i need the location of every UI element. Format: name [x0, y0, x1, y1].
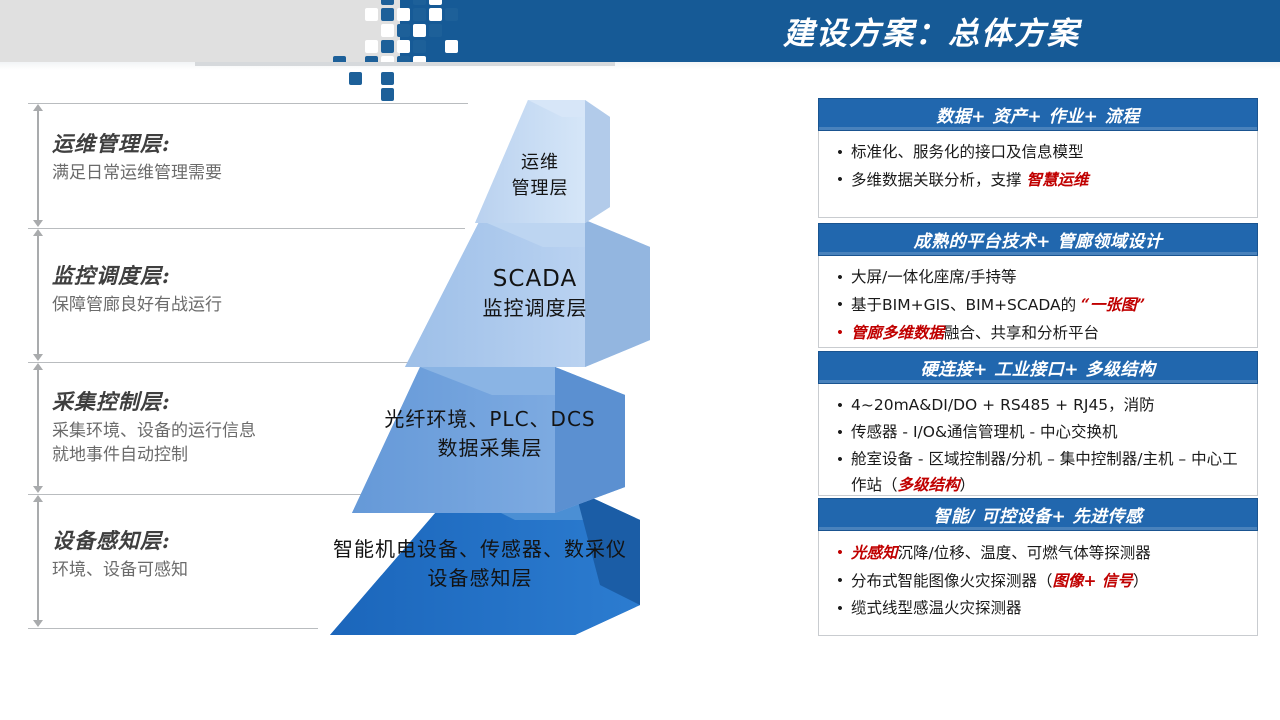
panel-2-bullet-0-text: 4~20mA&DI/DO + RS485 + RJ45，消防 [851, 393, 1155, 418]
panel-1: 成熟的平台技术+ 管廊领域设计 •大屏/一体化座席/手持等•基于BIM+GIS、… [818, 223, 1258, 348]
mosaic-pixel [365, 40, 378, 53]
mosaic-pixel [413, 24, 426, 37]
slide-root: 建设方案：总体方案 运维管理层: 满足日常运维管理需要 监控调度层: 保障管廊良… [0, 0, 1280, 720]
panel-0-title: 数据+ 资产+ 作业+ 流程 [936, 102, 1140, 127]
mosaic-pixel [381, 40, 394, 53]
layer-label-1-desc: 保障管廊良好有战运行 [52, 293, 222, 317]
bullet-dot-icon: • [829, 447, 851, 472]
plain-text: 传感器 - I/O&通信管理机 - 中心交换机 [851, 423, 1117, 441]
plain-text: 大屏/一体化座席/手持等 [851, 268, 1016, 286]
span-arrow-1 [37, 236, 39, 354]
layer-label-2: 采集控制层: 采集环境、设备的运行信息 就地事件自动控制 [52, 386, 256, 467]
panel-0-body: •标准化、服务化的接口及信息模型•多维数据关联分析，支撑 智慧运维 [818, 131, 1258, 218]
mosaic-pixel [381, 0, 394, 5]
layer-label-1-title: 监控调度层: [52, 260, 222, 290]
plain-text: 融合、共享和分析平台 [944, 324, 1099, 342]
bullet-dot-icon: • [829, 265, 851, 290]
layer-label-0-title: 运维管理层: [52, 128, 222, 158]
layer-label-2-title: 采集控制层: [52, 386, 256, 416]
panel-1-title: 成熟的平台技术+ 管廊领域设计 [914, 227, 1163, 252]
layer-label-1: 监控调度层: 保障管廊良好有战运行 [52, 260, 222, 317]
panel-2-header: 硬连接+ 工业接口+ 多级结构 [818, 351, 1258, 384]
mosaic-pixel [381, 8, 394, 21]
bullet-dot-icon: • [829, 568, 851, 593]
panel-3-bullet-2: •缆式线型感温火灾探测器 [829, 596, 1251, 621]
bullet-dot-icon: • [829, 540, 851, 565]
panel-1-body: •大屏/一体化座席/手持等•基于BIM+GIS、BIM+SCADA的 “一张图”… [818, 256, 1258, 348]
panel-1-bullet-1: •基于BIM+GIS、BIM+SCADA的 “一张图” [829, 292, 1251, 318]
panel-0-bullet-0: •标准化、服务化的接口及信息模型 [829, 140, 1251, 165]
mosaic-pixel [413, 8, 426, 21]
pyramid-layer-2-scada [405, 220, 650, 367]
panel-1-bullet-0-text: 大屏/一体化座席/手持等 [851, 265, 1016, 290]
layer-label-3: 设备感知层: 环境、设备可感知 [52, 525, 188, 582]
emphasis-text: “一张图” [1081, 295, 1145, 314]
divider-line-4 [28, 628, 318, 629]
panel-3-bullet-0-text: 光感知沉降/位移、温度、可燃气体等探测器 [851, 540, 1151, 566]
bullet-dot-icon: • [829, 167, 851, 192]
pyramid-svg [300, 95, 770, 635]
mosaic-pixel [429, 0, 442, 5]
panel-0-bullet-0-text: 标准化、服务化的接口及信息模型 [851, 140, 1084, 165]
mosaic-pixel [445, 40, 458, 53]
mosaic-pixel [445, 8, 458, 21]
slide-header: 建设方案：总体方案 [0, 0, 1280, 62]
plain-text: ） [1133, 572, 1149, 590]
mosaic-pixel [429, 8, 442, 21]
plain-text: 标准化、服务化的接口及信息模型 [851, 143, 1084, 161]
layer-label-3-desc: 环境、设备可感知 [52, 558, 188, 582]
panel-2-title: 硬连接+ 工业接口+ 多级结构 [921, 355, 1156, 380]
mosaic-pixel [381, 24, 394, 37]
plain-text: 分布式智能图像火灾探测器（ [851, 572, 1053, 590]
layer-label-3-title: 设备感知层: [52, 525, 188, 555]
plain-text: 缆式线型感温火灾探测器 [851, 599, 1022, 617]
mosaic-pixel [365, 8, 378, 21]
panel-1-bullet-2: •管廊多维数据融合、共享和分析平台 [829, 320, 1251, 346]
panel-3-title: 智能/ 可控设备+ 先进传感 [933, 502, 1142, 527]
panel-1-bullet-2-text: 管廊多维数据融合、共享和分析平台 [851, 320, 1099, 346]
span-arrow-2 [37, 370, 39, 486]
emphasis-text: 管廊多维数据 [851, 323, 944, 342]
plain-text: 4~20mA&DI/DO + RS485 + RJ45，消防 [851, 396, 1155, 414]
layer-label-0-desc: 满足日常运维管理需要 [52, 161, 222, 185]
panel-3-body: •光感知沉降/位移、温度、可燃气体等探测器•分布式智能图像火灾探测器（图像+ 信… [818, 531, 1258, 636]
bullet-dot-icon: • [829, 393, 851, 418]
panel-2-bullet-1: •传感器 - I/O&通信管理机 - 中心交换机 [829, 420, 1251, 445]
panel-1-bullet-1-text: 基于BIM+GIS、BIM+SCADA的 “一张图” [851, 292, 1145, 318]
panel-1-header: 成熟的平台技术+ 管廊领域设计 [818, 223, 1258, 256]
emphasis-text: 光感知 [851, 543, 898, 562]
bullet-dot-icon: • [829, 420, 851, 445]
emphasis-text: 图像+ 信号 [1053, 571, 1133, 590]
panel-2-bullet-2: •舱室设备 - 区域控制器/分机 – 集中控制器/主机 – 中心工作站（多级结构… [829, 447, 1251, 498]
panel-2-bullet-0: •4~20mA&DI/DO + RS485 + RJ45，消防 [829, 393, 1251, 418]
plain-text: ） [960, 476, 976, 494]
emphasis-text: 多级结构 [898, 475, 960, 494]
bullet-dot-icon: • [829, 596, 851, 621]
panel-3-bullet-1-text: 分布式智能图像火灾探测器（图像+ 信号） [851, 568, 1148, 594]
plain-text: 多维数据关联分析，支撑 [851, 171, 1026, 189]
bullet-dot-icon: • [829, 292, 851, 317]
layer-label-2-desc: 采集环境、设备的运行信息 就地事件自动控制 [52, 419, 256, 467]
bullet-dot-icon: • [829, 320, 851, 345]
panel-3-bullet-1: •分布式智能图像火灾探测器（图像+ 信号） [829, 568, 1251, 594]
bullet-dot-icon: • [829, 140, 851, 165]
panel-3-bullet-0: •光感知沉降/位移、温度、可燃气体等探测器 [829, 540, 1251, 566]
mosaic-pixel [397, 8, 410, 21]
span-arrow-3 [37, 502, 39, 620]
panel-0-bullet-1-text: 多维数据关联分析，支撑 智慧运维 [851, 167, 1088, 193]
mosaic-pixel [413, 0, 426, 5]
mosaic-pixel [397, 24, 410, 37]
panel-3: 智能/ 可控设备+ 先进传感 •光感知沉降/位移、温度、可燃气体等探测器•分布式… [818, 498, 1258, 636]
pixel-mosaic-decoration [333, 0, 473, 62]
plain-text: 沉降/位移、温度、可燃气体等探测器 [898, 544, 1151, 562]
page-title: 建设方案：总体方案 [783, 8, 1080, 53]
plain-text: 基于BIM+GIS、BIM+SCADA的 [851, 296, 1081, 314]
panel-2-bullet-1-text: 传感器 - I/O&通信管理机 - 中心交换机 [851, 420, 1117, 445]
panel-1-bullet-0: •大屏/一体化座席/手持等 [829, 265, 1251, 290]
mosaic-pixel [413, 40, 426, 53]
panel-2-body: •4~20mA&DI/DO + RS485 + RJ45，消防•传感器 - I/… [818, 384, 1258, 496]
mosaic-pixel [429, 24, 442, 37]
pyramid-layer-1-om-management [475, 100, 610, 223]
panel-3-header: 智能/ 可控设备+ 先进传感 [818, 498, 1258, 531]
header-underline [0, 62, 1280, 70]
layer-label-0: 运维管理层: 满足日常运维管理需要 [52, 128, 222, 185]
header-underline-grey-segment [195, 62, 615, 66]
panel-0-header: 数据+ 资产+ 作业+ 流程 [818, 98, 1258, 131]
panel-3-bullet-2-text: 缆式线型感温火灾探测器 [851, 596, 1022, 621]
panel-2: 硬连接+ 工业接口+ 多级结构 •4~20mA&DI/DO + RS485 + … [818, 351, 1258, 496]
panel-0: 数据+ 资产+ 作业+ 流程 •标准化、服务化的接口及信息模型•多维数据关联分析… [818, 98, 1258, 218]
mosaic-pixel [397, 40, 410, 53]
pyramid-layer-3-data-acquisition [352, 367, 625, 513]
panel-0-bullet-1: •多维数据关联分析，支撑 智慧运维 [829, 167, 1251, 193]
panel-2-bullet-2-text: 舱室设备 - 区域控制器/分机 – 集中控制器/主机 – 中心工作站（多级结构） [851, 447, 1251, 498]
emphasis-text: 智慧运维 [1026, 170, 1088, 189]
layered-pyramid-diagram: 运维 管理层 SCADA 监控调度层 光纤环境、PLC、DCS 数据采集层 智能… [300, 95, 770, 635]
span-arrow-0 [37, 111, 39, 220]
